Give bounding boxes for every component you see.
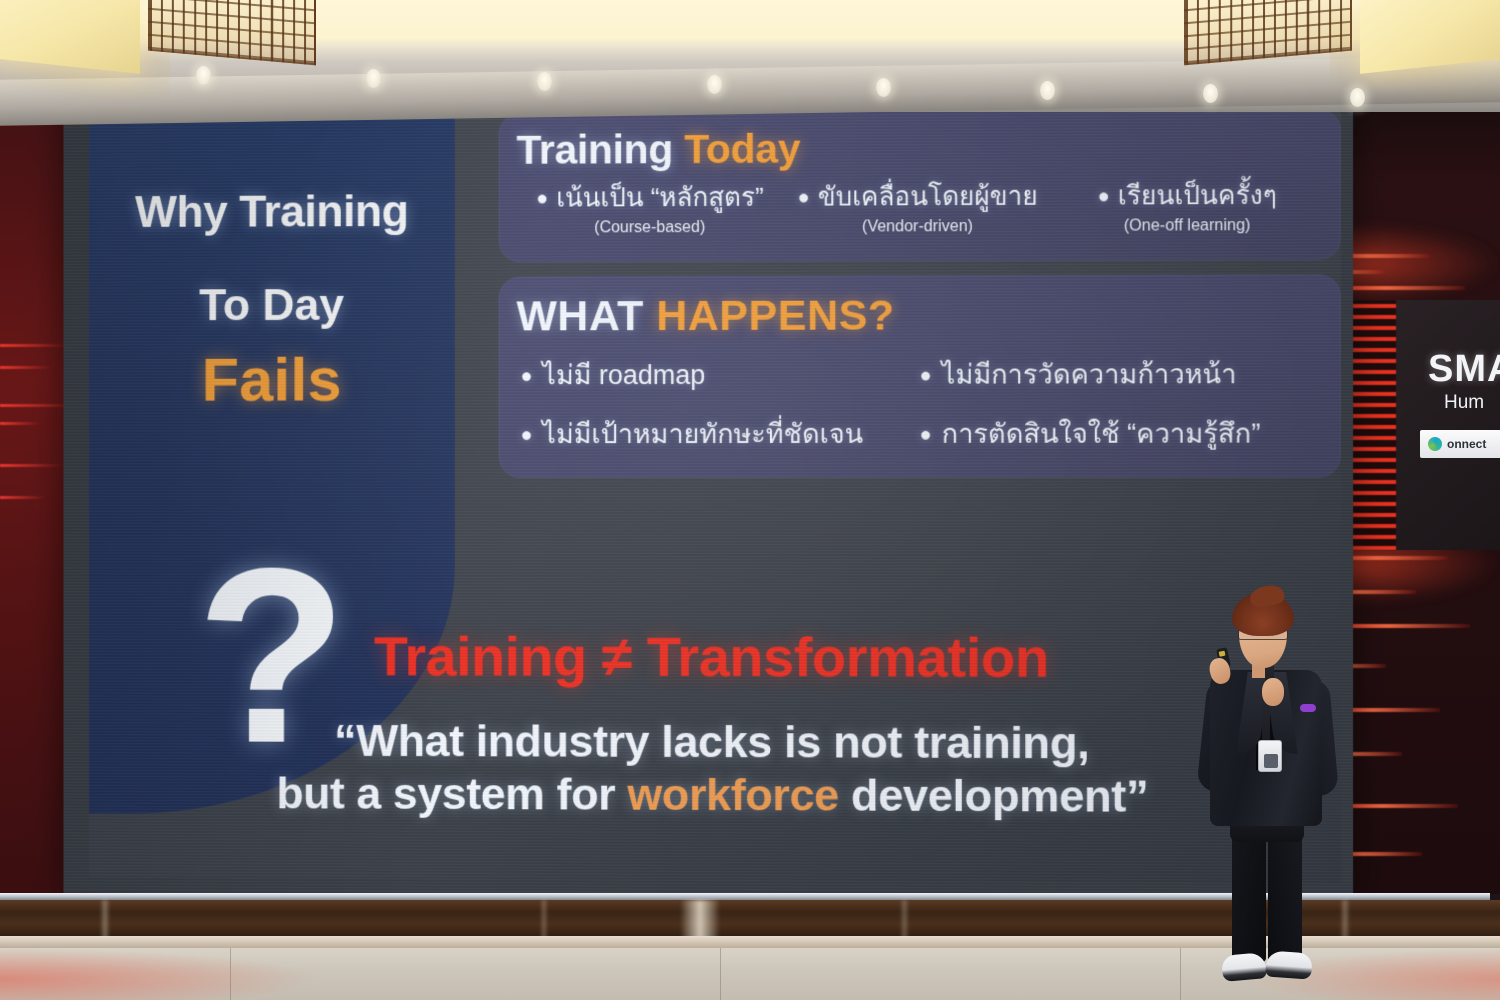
- bullet-dot-icon: ●: [536, 188, 548, 210]
- connect-logo-icon: [1428, 437, 1442, 451]
- ceiling: [0, 0, 1500, 112]
- quote-block: “What industry lacks is not training, bu…: [89, 713, 1341, 824]
- card-today-bullet-row: ●เน้นเป็น “หลักสูตร” (Course-based) ●ขับ…: [517, 174, 1323, 237]
- bullet-thai-text: ขับเคลื่อนโดยผู้ขาย: [818, 181, 1038, 212]
- side-screen-sponsor-bar: onnect: [1420, 430, 1500, 458]
- presenter-right-hand: [1262, 678, 1284, 706]
- ceiling-lamp-cage-left: [148, 0, 316, 65]
- bullet-item: ●เรียนเป็นครั้งๆ (One-off learning): [1052, 174, 1323, 235]
- quote-line-2-part-b: development”: [839, 770, 1149, 822]
- bullet-dot-icon: ●: [798, 187, 810, 209]
- ceiling-downlight: [1040, 81, 1055, 100]
- side-screen-subtitle: Hum: [1444, 392, 1484, 414]
- presenter-id-badge: [1258, 740, 1282, 772]
- quote-line-2-part-a: but a system for: [276, 768, 627, 820]
- quote-line-2: but a system for workforce development”: [89, 766, 1341, 824]
- bullet-text: การตัดสินใจใช้ “ความรู้สึก”: [942, 418, 1261, 448]
- bullet-dot-icon: ●: [520, 424, 532, 446]
- floor-red-glow-left: [0, 948, 320, 1000]
- presenter-person: [1196, 592, 1348, 982]
- ceiling-downlight: [876, 78, 891, 97]
- ceiling-downlight: [366, 69, 381, 88]
- bullet-text: ไม่มี roadmap: [542, 360, 705, 390]
- card-happens-heading-orange: HAPPENS?: [656, 292, 895, 341]
- bullet-item: ●ไม่มีการวัดความก้าวหน้า: [920, 352, 1323, 396]
- slide-bottom-statement: Training ≠ Transformation “What industry…: [89, 623, 1341, 824]
- bullet-thai-line: ●เน้นเป็น “หลักสูตร”: [517, 177, 784, 219]
- ceiling-lamp-cage-right: [1184, 0, 1352, 65]
- side-screen-red-pattern: [1348, 300, 1396, 550]
- card-today-heading-orange: Today: [684, 126, 800, 173]
- bullet-item: ●การตัดสินใจใช้ “ความรู้สึก”: [920, 411, 1323, 455]
- presenter-right-shoe: [1265, 950, 1313, 979]
- card-what-happens: WHAT HAPPENS? ●ไม่มี roadmap ●ไม่มีการวั…: [499, 274, 1341, 478]
- secondary-side-screen: SMA Hum onnect: [1348, 300, 1500, 550]
- quote-line-1: “What industry lacks is not training,: [89, 713, 1341, 770]
- slide-canvas: Why Training To Day Fails ? Training Tod…: [89, 101, 1341, 883]
- venue-room: SMA Hum onnect Why Training To Day Fails…: [0, 0, 1500, 1000]
- slide-title-block: Why Training To Day Fails: [89, 105, 455, 415]
- bullet-english-text: (Vendor-driven): [783, 218, 1052, 237]
- quote-line-2-workforce: workforce: [627, 769, 839, 821]
- bullet-text: ไม่มีเป้าหมายทักษะที่ชัดเจน: [542, 419, 863, 449]
- bullet-thai-line: ●เรียนเป็นครั้งๆ: [1052, 174, 1323, 216]
- ceiling-downlight: [707, 75, 722, 94]
- presenter-wristband: [1300, 704, 1316, 712]
- card-happens-bullet-grid: ●ไม่มี roadmap ●ไม่มีการวัดความก้าวหน้า …: [517, 352, 1323, 455]
- bullet-item: ●ไม่มีเป้าหมายทักษะที่ชัดเจน: [520, 412, 919, 455]
- card-training-today: Training Today ●เน้นเป็น “หลักสูตร” (Cou…: [499, 109, 1341, 263]
- title-line-1: Why Training: [89, 185, 455, 238]
- title-line-2: To Day: [89, 279, 455, 332]
- inequality-headline: Training ≠ Transformation: [89, 623, 1341, 691]
- bullet-item: ●เน้นเป็น “หลักสูตร” (Course-based): [517, 177, 784, 238]
- main-presentation-screen: Why Training To Day Fails ? Training Tod…: [63, 93, 1353, 900]
- bullet-english-text: (Course-based): [517, 219, 784, 238]
- sponsor-label: onnect: [1447, 437, 1486, 451]
- title-line-3-fails: Fails: [89, 344, 455, 415]
- card-happens-heading: WHAT HAPPENS?: [517, 290, 1323, 341]
- ceiling-downlight: [1203, 84, 1218, 103]
- bullet-item: ●ไม่มี roadmap: [520, 353, 919, 397]
- bullet-thai-text: เรียนเป็นครั้งๆ: [1118, 180, 1277, 211]
- bullet-text: ไม่มีการวัดความก้าวหน้า: [942, 359, 1237, 390]
- bullet-item: ●ขับเคลื่อนโดยผู้ขาย (Vendor-driven): [783, 176, 1052, 237]
- card-happens-heading-white: WHAT: [517, 292, 644, 340]
- card-today-heading: Training Today: [517, 123, 1323, 174]
- bullet-dot-icon: ●: [520, 365, 532, 387]
- bullet-dot-icon: ●: [920, 424, 932, 446]
- ceiling-downlight: [196, 66, 211, 85]
- bullet-dot-icon: ●: [920, 365, 932, 387]
- side-screen-brand: SMA: [1428, 348, 1500, 391]
- bullet-thai-line: ●ขับเคลื่อนโดยผู้ขาย: [783, 176, 1052, 218]
- ceiling-downlight: [1350, 88, 1365, 107]
- ceiling-downlight: [537, 72, 552, 91]
- card-today-heading-white: Training: [517, 126, 674, 173]
- bullet-dot-icon: ●: [1098, 185, 1110, 207]
- bullet-english-text: (One-off learning): [1052, 217, 1323, 236]
- slide-cards-column: Training Today ●เน้นเป็น “หลักสูตร” (Cou…: [499, 109, 1341, 478]
- presenter-left-shoe: [1221, 952, 1267, 982]
- bullet-thai-text: เน้นเป็น “หลักสูตร”: [556, 182, 763, 213]
